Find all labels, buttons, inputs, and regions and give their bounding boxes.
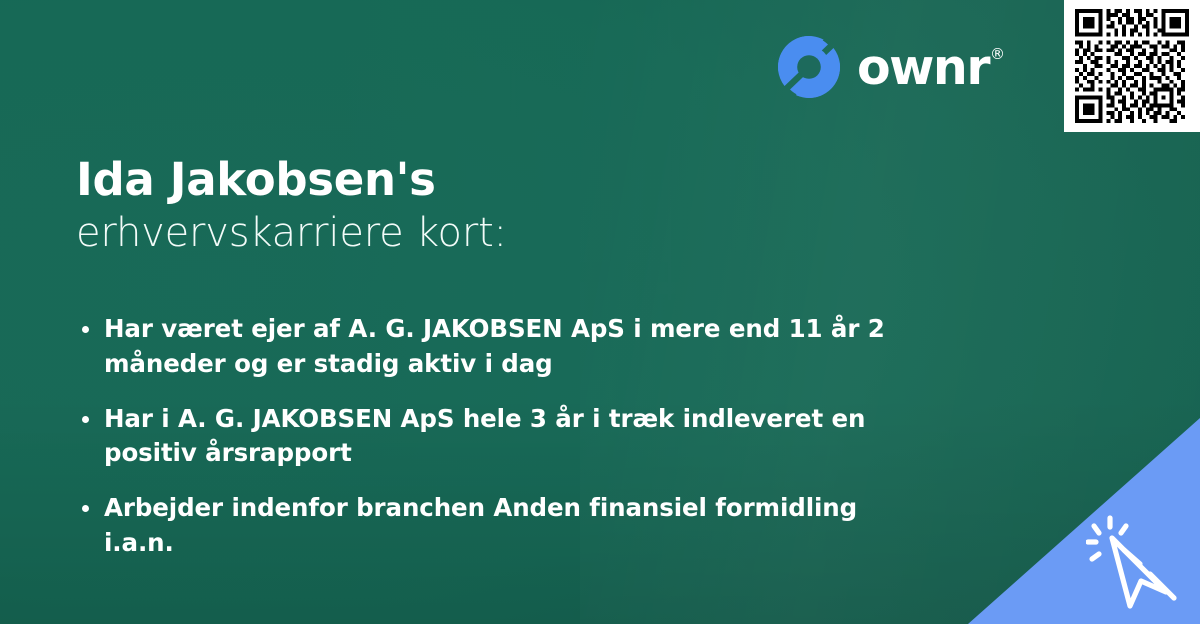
ownr-logo[interactable]: ownr®	[777, 35, 989, 99]
list-item: Har været ejer af A. G. JAKOBSEN ApS i m…	[78, 312, 908, 382]
page-title: Ida Jakobsen's	[76, 155, 836, 205]
qr-code[interactable]	[1073, 9, 1191, 123]
registered-mark: ®	[990, 47, 1005, 62]
list-item: Arbejder indenfor branchen Anden finansi…	[78, 491, 908, 561]
heading-block: Ida Jakobsen's erhvervskarriere kort:	[76, 155, 836, 257]
career-card: ownr® Ida Jakobsen's erhvervskarriere ko…	[0, 0, 1200, 624]
ownr-wordmark: ownr®	[857, 43, 989, 92]
brand-name: ownr	[857, 39, 989, 96]
list-item: Har i A. G. JAKOBSEN ApS hele 3 år i træ…	[78, 402, 908, 472]
click-cursor-icon	[1086, 512, 1190, 616]
ownr-swirl-icon	[777, 35, 841, 99]
qr-code-panel[interactable]	[1064, 0, 1200, 132]
career-highlights-list: Har været ejer af A. G. JAKOBSEN ApS i m…	[78, 312, 908, 561]
page-subtitle: erhvervskarriere kort:	[76, 209, 836, 257]
